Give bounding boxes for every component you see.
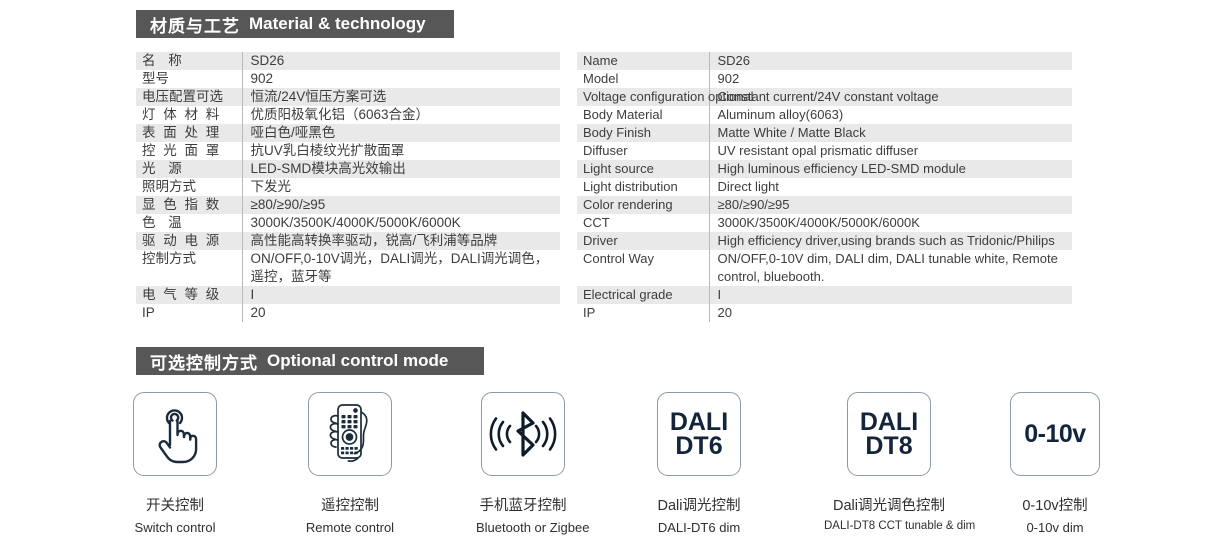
spec-key: 灯 体 材 料 xyxy=(142,107,221,122)
spec-key: IP xyxy=(142,305,155,320)
table-row: Light distribution Direct light xyxy=(577,178,1072,196)
dali-dt8-icon-box[interactable]: DALI DT8 xyxy=(847,392,931,476)
spec-key: Model xyxy=(577,70,709,88)
spec-value: SD26 xyxy=(242,52,560,70)
section-header-material: 材质与工艺 Material & technology xyxy=(136,10,454,38)
spec-value: UV resistant opal prismatic diffuser xyxy=(709,142,1072,160)
section-header-control-mode: 可选控制方式 Optional control mode xyxy=(136,347,484,375)
control-mode-remote[interactable]: 遥控控制 Remote control xyxy=(303,392,397,535)
dali-dt6-line2: DT6 xyxy=(670,434,728,459)
table-row: Body Material Aluminum alloy(6063) xyxy=(577,106,1072,124)
table-row: Driver High efficiency driver,using bran… xyxy=(577,232,1072,250)
remote-control-icon xyxy=(320,402,380,466)
dali-dt8-icon: DALI DT8 xyxy=(860,410,918,459)
table-row: 灯 体 材 料 优质阳极氧化铝（6063合金） xyxy=(136,106,560,124)
table-row: Voltage configuration optional Constant … xyxy=(577,88,1072,106)
spec-key: 控制方式 xyxy=(142,251,196,266)
spec-key: 光 源 xyxy=(142,161,186,176)
spec-value: Direct light xyxy=(709,178,1072,196)
table-row: Body Finish Matte White / Matte Black xyxy=(577,124,1072,142)
spec-key: Body Material xyxy=(577,106,709,124)
table-row: Electrical grade I xyxy=(577,286,1072,304)
control-mode-dali-dt6[interactable]: DALI DT6 Dali调光控制 DALI-DT6 dim xyxy=(652,392,746,535)
spec-key: 色 温 xyxy=(142,215,186,230)
section-header-control-en: Optional control mode xyxy=(267,351,448,371)
spec-key: Light distribution xyxy=(577,178,709,196)
spec-table-chinese: 名 称 SD26 型号 902 电压配置可选 恒流/24V恒压方案可选 灯 体 … xyxy=(136,52,560,322)
spec-value: ON/OFF,0-10V dim, DALI dim, DALI tunable… xyxy=(709,250,1072,286)
remote-control-icon-box[interactable] xyxy=(308,392,392,476)
control-mode-label-en: 0-10v dim xyxy=(1000,520,1110,535)
table-row: IP 20 xyxy=(136,304,560,322)
zero-to-ten-volt-icon: 0-10v xyxy=(1024,420,1085,449)
control-mode-0-10v[interactable]: 0-10v 0-10v控制 0-10v dim xyxy=(1000,392,1110,535)
spec-table-english: Name SD26 Model 902 Voltage configuratio… xyxy=(577,52,1072,322)
table-row: Model 902 xyxy=(577,70,1072,88)
spec-key: 型号 xyxy=(142,71,169,86)
table-row: IP 20 xyxy=(577,304,1072,322)
table-row: 照明方式 下发光 xyxy=(136,178,560,196)
spec-key: Driver xyxy=(577,232,709,250)
table-row: CCT 3000K/3500K/4000K/5000K/6000K xyxy=(577,214,1072,232)
control-mode-label-en: Switch control xyxy=(128,520,222,535)
spec-value: 902 xyxy=(709,70,1072,88)
spec-key: 表 面 处 理 xyxy=(142,125,221,140)
control-mode-label-en: DALI-DT6 dim xyxy=(652,520,746,535)
control-mode-label-cn: 手机蓝牙控制 xyxy=(476,494,570,515)
control-mode-dali-dt8[interactable]: DALI DT8 Dali调光调色控制 DALI-DT8 CCT tunable… xyxy=(824,392,954,532)
control-mode-label-cn: 开关控制 xyxy=(128,494,222,515)
spec-value: 恒流/24V恒压方案可选 xyxy=(242,88,560,106)
table-row: 色 温 3000K/3500K/4000K/5000K/6000K xyxy=(136,214,560,232)
table-row: 控制方式 ON/OFF,0-10V调光，DALI调光，DALI调光调色，遥控，蓝… xyxy=(136,250,560,286)
table-row: 表 面 处 理 哑白色/哑黑色 xyxy=(136,124,560,142)
spec-key: Control Way xyxy=(577,250,709,286)
spec-key: 显 色 指 数 xyxy=(142,197,221,212)
control-mode-switch[interactable]: 开关控制 Switch control xyxy=(128,392,222,535)
table-row: 电压配置可选 恒流/24V恒压方案可选 xyxy=(136,88,560,106)
section-header-material-cn: 材质与工艺 xyxy=(150,12,240,37)
spec-value: 20 xyxy=(242,304,560,322)
bluetooth-icon-box[interactable] xyxy=(481,392,565,476)
table-row: 显 色 指 数 ≥80/≥90/≥95 xyxy=(136,196,560,214)
section-header-material-en: Material & technology xyxy=(249,14,426,34)
control-mode-list: 开关控制 Switch control xyxy=(128,392,1110,544)
spec-value: SD26 xyxy=(709,52,1072,70)
table-row: Color rendering ≥80/≥90/≥95 xyxy=(577,196,1072,214)
spec-key: Light source xyxy=(577,160,709,178)
spec-key: Electrical grade xyxy=(577,286,709,304)
spec-key: Diffuser xyxy=(577,142,709,160)
table-row: 型号 902 xyxy=(136,70,560,88)
table-row: Diffuser UV resistant opal prismatic dif… xyxy=(577,142,1072,160)
control-mode-label-cn: Dali调光控制 xyxy=(652,494,746,515)
spec-value: 优质阳极氧化铝（6063合金） xyxy=(242,106,560,124)
zero-to-ten-volt-icon-box[interactable]: 0-10v xyxy=(1010,392,1100,476)
table-row: 驱 动 电 源 高性能高转换率驱动，锐高/飞利浦等品牌 xyxy=(136,232,560,250)
spec-value: High luminous efficiency LED-SMD module xyxy=(709,160,1072,178)
spec-value: I xyxy=(242,286,560,304)
spec-value: 3000K/3500K/4000K/5000K/6000K xyxy=(709,214,1072,232)
spec-value: 哑白色/哑黑色 xyxy=(242,124,560,142)
table-row: Name SD26 xyxy=(577,52,1072,70)
bluetooth-signal-icon xyxy=(488,409,558,459)
spec-value: 下发光 xyxy=(242,178,560,196)
spec-value: Constant current/24V constant voltage xyxy=(709,88,1072,106)
section-header-control-cn: 可选控制方式 xyxy=(150,349,258,374)
spec-value: I xyxy=(709,286,1072,304)
table-row: 电 气 等 级 I xyxy=(136,286,560,304)
spec-key: 控 光 面 罩 xyxy=(142,143,221,158)
spec-key: CCT xyxy=(577,214,709,232)
spec-value: 20 xyxy=(709,304,1072,322)
control-mode-label-cn: 0-10v控制 xyxy=(1000,494,1110,515)
table-row: 名 称 SD26 xyxy=(136,52,560,70)
table-row: Control Way ON/OFF,0-10V dim, DALI dim, … xyxy=(577,250,1072,286)
dali-dt8-line2: DT8 xyxy=(860,434,918,459)
hand-tap-icon xyxy=(147,404,203,464)
control-mode-label-en: Remote control xyxy=(303,520,397,535)
spec-value: 高性能高转换率驱动，锐高/飞利浦等品牌 xyxy=(242,232,560,250)
spec-key: 电压配置可选 xyxy=(142,89,223,104)
spec-value: ON/OFF,0-10V调光，DALI调光，DALI调光调色，遥控，蓝牙等 xyxy=(242,250,560,286)
control-mode-label-cn: Dali调光调色控制 xyxy=(824,494,954,515)
control-mode-label-en: DALI-DT8 CCT tunable & dim xyxy=(824,520,954,532)
spec-value: ≥80/≥90/≥95 xyxy=(709,196,1072,214)
spec-value: Aluminum alloy(6063) xyxy=(709,106,1072,124)
control-mode-label-en: Bluetooth or Zigbee xyxy=(476,520,570,535)
spec-key: 名 称 xyxy=(142,53,186,68)
spec-key: Name xyxy=(577,52,709,70)
spec-key: Body Finish xyxy=(577,124,709,142)
spec-value: ≥80/≥90/≥95 xyxy=(242,196,560,214)
spec-value: 抗UV乳白棱纹光扩散面罩 xyxy=(242,142,560,160)
spec-value: 3000K/3500K/4000K/5000K/6000K xyxy=(242,214,560,232)
dali-dt6-icon: DALI DT6 xyxy=(670,410,728,459)
table-row: 光 源 LED-SMD模块高光效输出 xyxy=(136,160,560,178)
spec-value: 902 xyxy=(242,70,560,88)
spec-key: Color rendering xyxy=(577,196,709,214)
control-mode-label-cn: 遥控控制 xyxy=(303,494,397,515)
dali-dt6-icon-box[interactable]: DALI DT6 xyxy=(657,392,741,476)
spec-key: 驱 动 电 源 xyxy=(142,233,221,248)
control-mode-bluetooth[interactable]: 手机蓝牙控制 Bluetooth or Zigbee xyxy=(476,392,570,535)
switch-control-icon-box[interactable] xyxy=(133,392,217,476)
spec-key: 电 气 等 级 xyxy=(142,287,221,302)
table-row: 控 光 面 罩 抗UV乳白棱纹光扩散面罩 xyxy=(136,142,560,160)
spec-value: High efficiency driver,using brands such… xyxy=(709,232,1072,250)
spec-key: Voltage configuration optional xyxy=(577,88,709,106)
spec-value: Matte White / Matte Black xyxy=(709,124,1072,142)
table-row: Light source High luminous efficiency LE… xyxy=(577,160,1072,178)
spec-key: 照明方式 xyxy=(142,179,196,194)
spec-value: LED-SMD模块高光效输出 xyxy=(242,160,560,178)
spec-key: IP xyxy=(577,304,709,322)
